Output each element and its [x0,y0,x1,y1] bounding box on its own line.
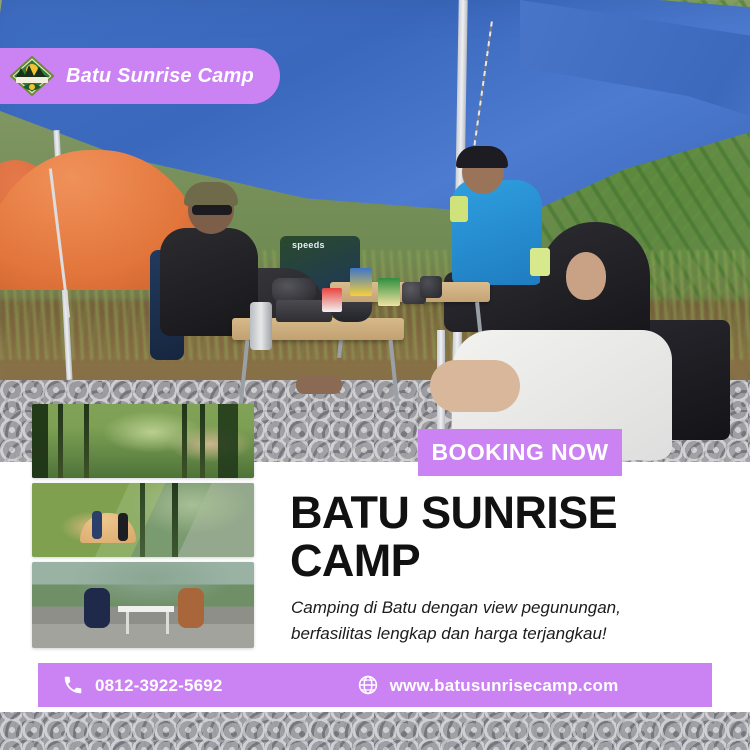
person-blue-cap [456,146,508,168]
globe-icon [357,674,379,696]
chair-brand-label: speeds [292,240,325,250]
person-hijab-arm [430,360,520,412]
page-title-line-1: BATU SUNRISE [290,489,720,537]
gallery-thumbnail-2[interactable] [32,483,254,557]
noodle-cup-green [378,278,400,306]
booking-now-badge[interactable]: BOOKING NOW [418,429,622,476]
tagline-text: Camping di Batu dengan view pegunungan, … [291,595,691,647]
thumbnail-1-image [32,404,254,478]
phone-icon [62,674,84,696]
gas-canister [250,302,272,350]
person-left-sunglasses [192,205,232,215]
poster-root: speeds [0,0,750,750]
person-left-sandal [296,376,342,394]
booking-now-label: BOOKING NOW [432,441,609,464]
contact-footer-bar: 0812-3922-5692 www.batusunrisecamp.com [38,663,712,707]
thumbnail-2-image [32,483,254,557]
page-title: BATU SUNRISE CAMP [290,489,720,585]
phone-number-label: 0812-3922-5692 [95,677,223,694]
brand-name-label: Batu Sunrise Camp [66,66,254,86]
person-hijab-face [566,252,606,300]
contact-phone[interactable]: 0812-3922-5692 [62,674,223,696]
brand-logo-pill[interactable]: Batu Sunrise Camp [0,48,280,104]
person-hijab-cup [530,248,550,276]
camp-mug-b [420,276,442,298]
gallery-thumbnail-1[interactable] [32,404,254,478]
contact-website[interactable]: www.batusunrisecamp.com [357,674,619,696]
page-title-line-2: CAMP [290,537,720,585]
camp-emblem-icon [10,56,54,96]
noodle-cup-red [322,288,342,312]
noodle-cup-blue [350,268,372,296]
gallery-thumbnail-3[interactable] [32,562,254,648]
person-left-cap [184,182,238,206]
person-blue-cup [450,196,468,222]
website-url-label: www.batusunrisecamp.com [390,677,619,694]
thumbnail-3-image [32,562,254,648]
